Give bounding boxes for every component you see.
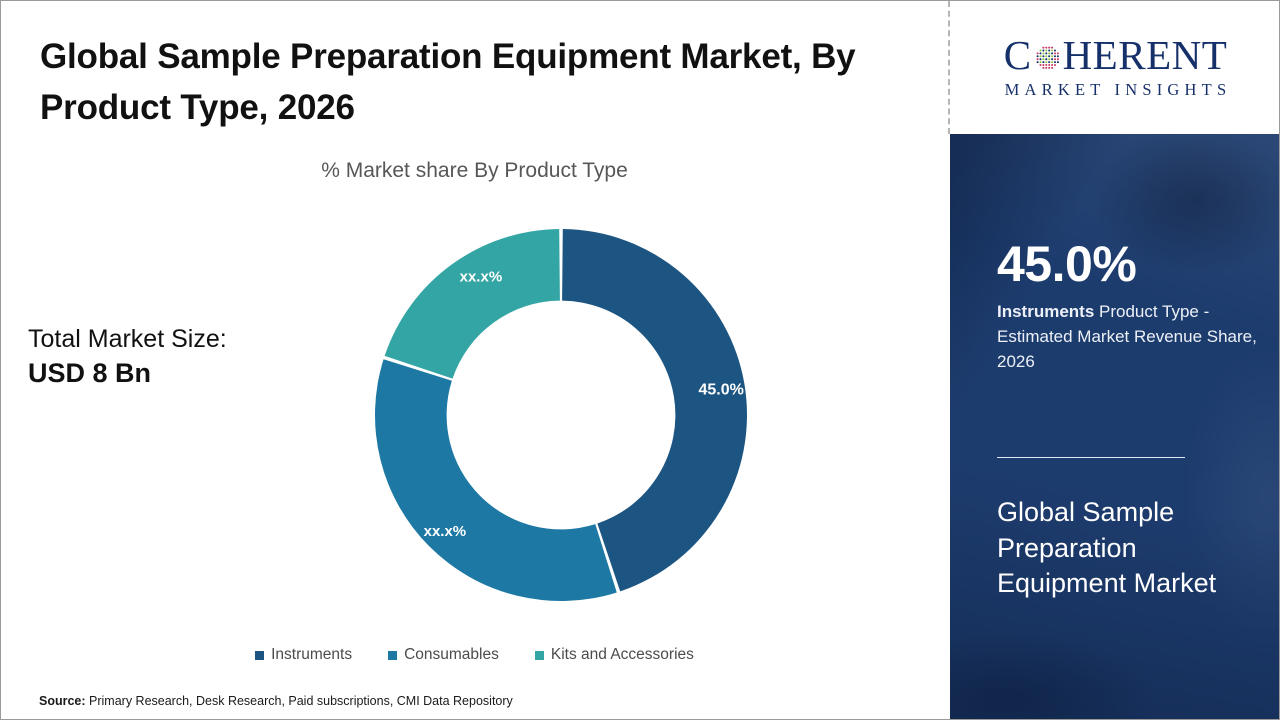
- chart-subtitle: % Market share By Product Type: [1, 159, 948, 183]
- legend-label-instruments: Instruments: [271, 646, 352, 664]
- stat-panel: 45.0% Instruments Product Type - Estimat…: [950, 134, 1280, 720]
- infographic-page: Global Sample Preparation Equipment Mark…: [0, 0, 1280, 720]
- highlight-stat-description: Instruments Product Type - Estimated Mar…: [997, 299, 1259, 374]
- source-label: Source:: [39, 694, 86, 708]
- legend-label-kits-and-accessories: Kits and Accessories: [551, 646, 694, 664]
- source-line: Source: Primary Research, Desk Research,…: [39, 694, 513, 708]
- donut-slice-group: [375, 229, 747, 601]
- logo-wordmark: C HERENT: [1004, 35, 1228, 76]
- donut-slice-label-instruments: 45.0%: [699, 382, 744, 399]
- legend-swatch-consumables: [388, 651, 397, 660]
- highlight-stat-block: 45.0% Instruments Product Type - Estimat…: [997, 239, 1267, 374]
- donut-slice-label-consumables: xx.x%: [424, 523, 467, 540]
- legend-swatch-kits-and-accessories: [535, 651, 544, 660]
- source-text: Primary Research, Desk Research, Paid su…: [86, 694, 513, 708]
- legend-item-instruments[interactable]: Instruments: [255, 646, 352, 664]
- legend-swatch-instruments: [255, 651, 264, 660]
- chart-legend: InstrumentsConsumablesKits and Accessori…: [1, 646, 948, 664]
- panel-divider: [997, 457, 1185, 458]
- panel-report-heading: Global Sample Preparation Equipment Mark…: [997, 495, 1247, 602]
- highlight-stat-segment-name: Instruments: [997, 302, 1094, 321]
- total-market-size-label: Total Market Size:: [28, 323, 358, 356]
- donut-slice-consumables: [375, 359, 617, 601]
- donut-slice-kits-and-accessories: [385, 229, 560, 379]
- brand-pane: C HERENT MARKET INSIGHTS 45.0% Instrumen…: [950, 1, 1280, 720]
- page-title: Global Sample Preparation Equipment Mark…: [40, 32, 900, 134]
- legend-item-kits-and-accessories[interactable]: Kits and Accessories: [535, 646, 694, 664]
- donut-slice-label-kits-and-accessories: xx.x%: [460, 268, 503, 285]
- total-market-size-value: USD 8 Bn: [28, 356, 358, 392]
- globe-icon: [1033, 43, 1062, 72]
- donut-chart-svg: 45.0%xx.x%xx.x%: [375, 229, 747, 601]
- highlight-stat-value: 45.0%: [997, 239, 1267, 290]
- donut-chart: 45.0%xx.x%xx.x%: [375, 229, 747, 601]
- logo-subtitle: MARKET INSIGHTS: [1000, 80, 1232, 100]
- total-market-size-block: Total Market Size: USD 8 Bn: [28, 323, 358, 392]
- chart-pane: Global Sample Preparation Equipment Mark…: [1, 1, 948, 720]
- logo-letter-c: C: [1004, 35, 1032, 76]
- coherent-market-insights-logo: C HERENT MARKET INSIGHTS: [950, 1, 1280, 134]
- panel-background-texture: [950, 134, 1280, 720]
- legend-label-consumables: Consumables: [404, 646, 499, 664]
- legend-item-consumables[interactable]: Consumables: [388, 646, 499, 664]
- logo-letters-herent: HERENT: [1063, 35, 1228, 76]
